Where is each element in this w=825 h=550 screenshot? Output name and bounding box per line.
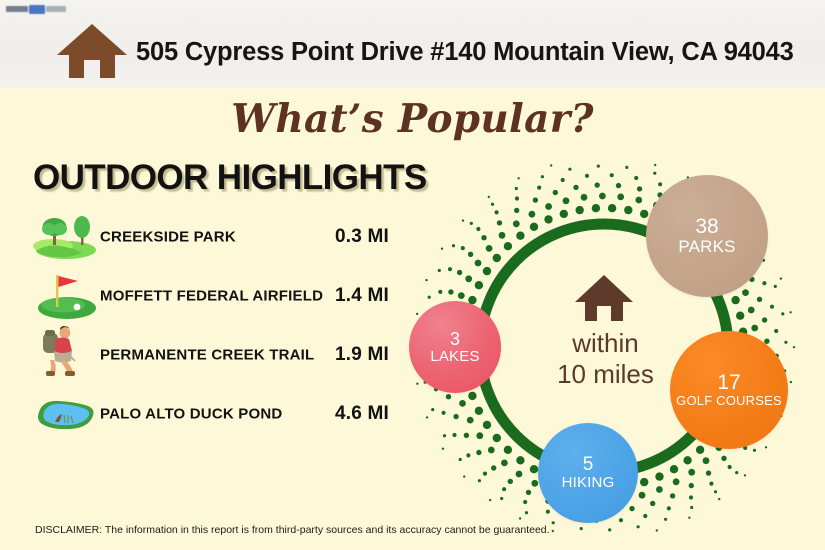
list-item-distance: 1.4 MI [335, 285, 389, 307]
stat-count: 17 [717, 372, 740, 394]
stat-count: 38 [695, 216, 718, 238]
house-icon [573, 273, 635, 323]
park-trees-icon [33, 207, 99, 263]
stat-bubble-parks[interactable]: 38 PARKS [646, 175, 768, 297]
golf-flag-icon [33, 266, 99, 322]
stat-count: 5 [583, 455, 594, 475]
stat-bubble-hiking[interactable]: 5 HIKING [538, 423, 638, 523]
list-item-name: PALO ALTO DUCK POND [100, 405, 282, 422]
list-item-name: MOFFETT FEDERAL AIRFIELD [100, 287, 323, 304]
list-item: MOFFETT FEDERAL AIRFIELD 1.4 MI [30, 266, 430, 325]
list-item: PALO ALTO DUCK POND 4.6 MI [30, 384, 430, 443]
list-item-distance: 1.9 MI [335, 344, 389, 366]
header-band: 505 Cypress Point Drive #140 Mountain Vi… [0, 0, 825, 88]
brand-logo-mark-left [6, 6, 28, 12]
stat-label: GOLF COURSES [676, 394, 782, 408]
stat-label: LAKES [430, 349, 479, 365]
outdoor-highlights-heading: OUTDOOR HIGHLIGHTS [33, 158, 427, 198]
outdoor-highlights-list: CREEKSIDE PARK 0.3 MI MOFFETT FEDERAL AI… [30, 207, 430, 443]
house-icon [55, 22, 129, 79]
stat-bubble-golf-courses[interactable]: 17 GOLF COURSES [670, 331, 788, 449]
list-item-name: CREEKSIDE PARK [100, 229, 236, 246]
within-10-miles-infographic: within 10 miles 38 PARKS 17 GOLF COURSES… [398, 163, 818, 535]
brand-logo-mark-center [29, 5, 45, 14]
infographic-page: 505 Cypress Point Drive #140 Mountain Vi… [0, 0, 825, 550]
stat-label: PARKS [678, 238, 735, 256]
list-item-distance: 4.6 MI [335, 403, 389, 425]
disclaimer-text: DISCLAIMER: The information in this repo… [35, 524, 550, 536]
list-item-name: PERMANENTE CREEK TRAIL [100, 346, 314, 363]
list-item: PERMANENTE CREEK TRAIL 1.9 MI [30, 325, 430, 384]
pond-icon [33, 384, 99, 440]
stat-label: HIKING [562, 475, 615, 491]
stat-bubble-lakes[interactable]: 3 LAKES [409, 301, 501, 393]
page-title: 505 Cypress Point Drive #140 Mountain Vi… [136, 38, 794, 67]
section-title-whats-popular: What’s Popular? [0, 96, 825, 142]
brand-logo [6, 3, 70, 15]
brand-logo-mark-right [46, 6, 66, 12]
list-item-distance: 0.3 MI [335, 226, 389, 248]
stat-count: 3 [450, 330, 460, 349]
hiker-icon [33, 325, 99, 381]
list-item: CREEKSIDE PARK 0.3 MI [30, 207, 430, 266]
